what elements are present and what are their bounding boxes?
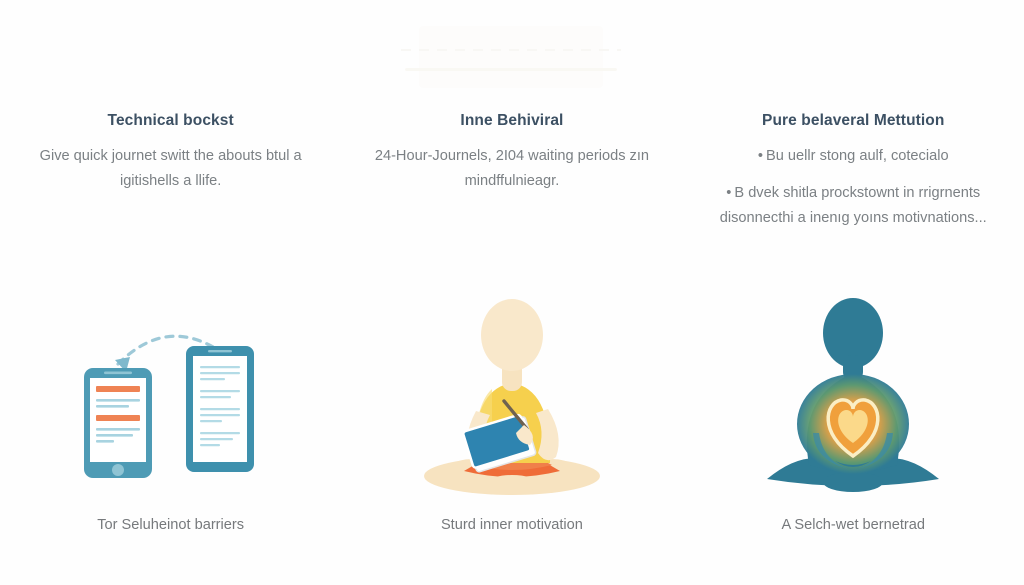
- list-item: •B dvek shitla prockstownt in rrigrnents…: [709, 181, 998, 231]
- illustration-caption: Tor Seluheinot barriers: [0, 517, 341, 533]
- illustration-caption: A Selch-wet bernetrad: [683, 517, 1024, 533]
- bullet-icon: •: [726, 185, 731, 201]
- list-item-text: Bu uellr stong aulf, cotecialo: [766, 148, 949, 164]
- illustration-cell: [683, 283, 1024, 498]
- column-meditation: Pure belaveral Mettution •Bu uellr stong…: [683, 112, 1024, 243]
- column-heading: Pure belaveral Mettution: [709, 112, 998, 130]
- caption-row: Tor Seluheinot barriers Sturd inner moti…: [0, 517, 1024, 533]
- column-heading: Technical bockst: [26, 112, 315, 130]
- faded-top-graphic-underline: [405, 68, 617, 71]
- faded-top-graphic-box: [419, 26, 603, 88]
- column-behavioral: Inne Behiviral 24-Hour-Journels, 2I04 wa…: [341, 112, 682, 243]
- illustration-cell: [0, 283, 341, 498]
- column-paragraph: 24-Hour-Journels, 2I04 waiting periods z…: [367, 144, 656, 194]
- faded-top-graphic: [397, 22, 625, 94]
- list-item-text: B dvek shitla prockstownt in rrigrnents …: [720, 185, 987, 226]
- column-heading: Inne Behiviral: [367, 112, 656, 130]
- text-columns: Technical bockst Give quick journet swit…: [0, 112, 1024, 243]
- illustration-cell: [341, 283, 682, 498]
- meditating-figure-heart-icon: [753, 293, 953, 498]
- illustration-row: [0, 283, 1024, 498]
- bullet-icon: •: [758, 148, 763, 164]
- column-paragraph: Give quick journet switt the abouts btul…: [26, 144, 315, 194]
- column-bullet-list: •Bu uellr stong aulf, cotecialo •B dvek …: [709, 144, 998, 231]
- column-technical: Technical bockst Give quick journet swit…: [0, 112, 341, 243]
- illustration-caption: Sturd inner motivation: [341, 517, 682, 533]
- seated-person-journaling-icon: [412, 293, 612, 498]
- faded-top-graphic-dashes: [401, 49, 621, 51]
- list-item: •Bu uellr stong aulf, cotecialo: [709, 144, 998, 169]
- two-tablets-sync-icon: [56, 298, 286, 498]
